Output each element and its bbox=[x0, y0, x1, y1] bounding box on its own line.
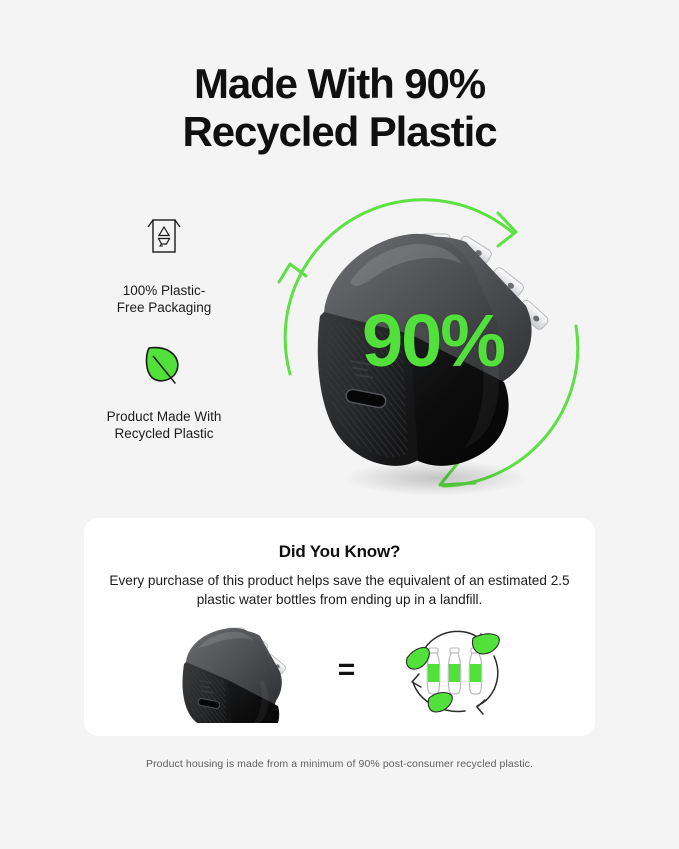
card-body: Every purchase of this product helps sav… bbox=[84, 562, 595, 609]
black-usb-c-wall-charger bbox=[168, 618, 298, 723]
product-infographic-page: Made With 90% Recycled Plastic 100% Plas… bbox=[0, 0, 679, 849]
headline-line-2: Recycled Plastic bbox=[0, 108, 679, 156]
feature-label-line-2: Free Packaging bbox=[84, 299, 244, 316]
did-you-know-card: Did You Know? Every purchase of this pro… bbox=[84, 518, 595, 736]
feature-label: 100% Plastic- Free Packaging bbox=[84, 282, 244, 316]
equals-sign: = bbox=[338, 655, 356, 685]
three-recycled-water-bottles-icon bbox=[395, 616, 511, 724]
green-leaf-icon bbox=[84, 342, 244, 398]
feature-label-line-2: Recycled Plastic bbox=[84, 425, 244, 442]
feature-recycled-plastic-product: Product Made With Recycled Plastic bbox=[84, 342, 244, 442]
green-recycling-arrows-circle bbox=[258, 186, 608, 516]
card-title: Did You Know? bbox=[84, 518, 595, 562]
feature-plastic-free-packaging: 100% Plastic- Free Packaging bbox=[84, 216, 244, 316]
page-title: Made With 90% Recycled Plastic bbox=[0, 60, 679, 156]
headline-line-1: Made With 90% bbox=[194, 60, 485, 107]
feature-list: 100% Plastic- Free Packaging Product Mad… bbox=[84, 216, 244, 468]
feature-label-line-1: Product Made With bbox=[84, 408, 244, 425]
feature-label: Product Made With Recycled Plastic bbox=[84, 408, 244, 442]
feature-label-line-1: 100% Plastic- bbox=[84, 282, 244, 299]
footnote: Product housing is made from a minimum o… bbox=[0, 758, 679, 770]
hero-graphic: 90% bbox=[258, 186, 608, 516]
card-body-line-1: Every purchase of this product helps sav… bbox=[109, 573, 484, 588]
equivalence-row: = bbox=[84, 614, 595, 726]
recyclable-packaging-box-icon bbox=[84, 216, 244, 272]
